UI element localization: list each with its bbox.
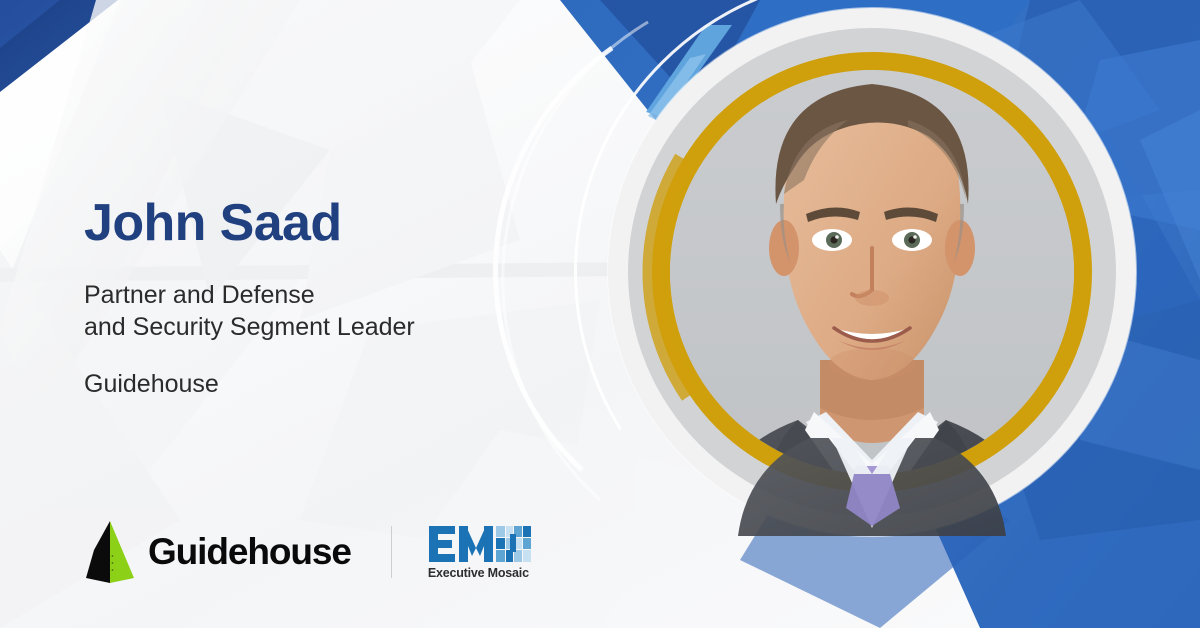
logo-row: Guidehouse <box>84 520 532 584</box>
portrait-medallion <box>608 8 1136 536</box>
person-title-line-1: Partner and Defense <box>84 281 315 309</box>
person-title: Partner and Defense and Security Segment… <box>84 279 554 343</box>
executive-mosaic-logo: Executive Mosaic <box>428 524 532 580</box>
person-info-block: John Saad Partner and Defense and Securi… <box>84 196 554 399</box>
guidehouse-logo: Guidehouse <box>84 520 351 584</box>
executive-mosaic-icon <box>428 524 532 564</box>
guidehouse-arrow-icon <box>84 520 136 584</box>
executive-mosaic-wordmark: Executive Mosaic <box>428 566 532 580</box>
person-title-line-2: and Security Segment Leader <box>84 311 554 343</box>
person-organization: Guidehouse <box>84 369 554 399</box>
logo-divider <box>391 526 392 578</box>
announcement-card: John Saad Partner and Defense and Securi… <box>0 0 1200 628</box>
person-name: John Saad <box>84 196 554 251</box>
guidehouse-wordmark: Guidehouse <box>148 531 351 573</box>
